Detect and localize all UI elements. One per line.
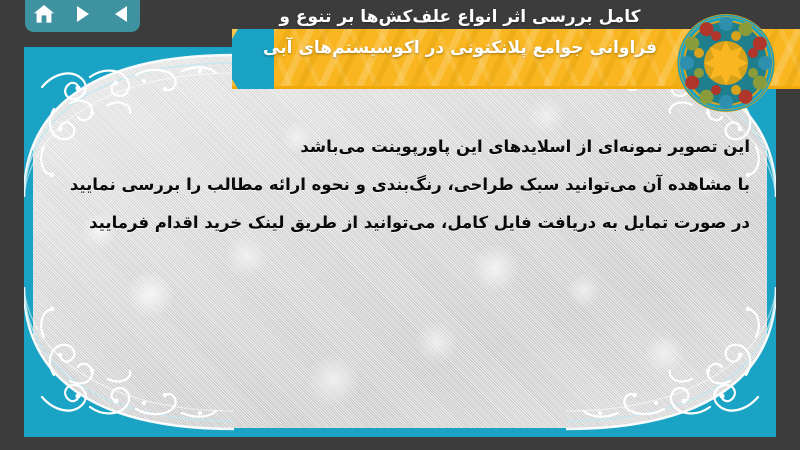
- slide-frame: [24, 47, 776, 437]
- slide-viewer: کامل بررسی اثر انواع علف‌کش‌ها بر تنوع و…: [0, 0, 800, 450]
- body-line-2: با مشاهده آن می‌توانید سبک طراحی، رنگ‌بن…: [40, 166, 750, 204]
- navigation-bar: [25, 0, 140, 32]
- banner-tab: [232, 29, 274, 89]
- back-button[interactable]: [106, 1, 136, 27]
- triangle-left-icon: [113, 5, 129, 23]
- slide-body-text: این تصویر نمونه‌ای از اسلایدهای این پاور…: [40, 128, 768, 242]
- body-line-1: این تصویر نمونه‌ای از اسلایدهای این پاور…: [40, 128, 750, 166]
- home-button[interactable]: [29, 1, 59, 27]
- slide-panel: [33, 56, 767, 428]
- body-line-3: در صورت تمایل به دریافت فایل کامل، می‌تو…: [40, 204, 750, 242]
- home-icon: [33, 4, 55, 24]
- triangle-right-icon: [75, 5, 91, 23]
- forward-button[interactable]: [68, 1, 98, 27]
- persian-medallion-ornament: [676, 13, 776, 113]
